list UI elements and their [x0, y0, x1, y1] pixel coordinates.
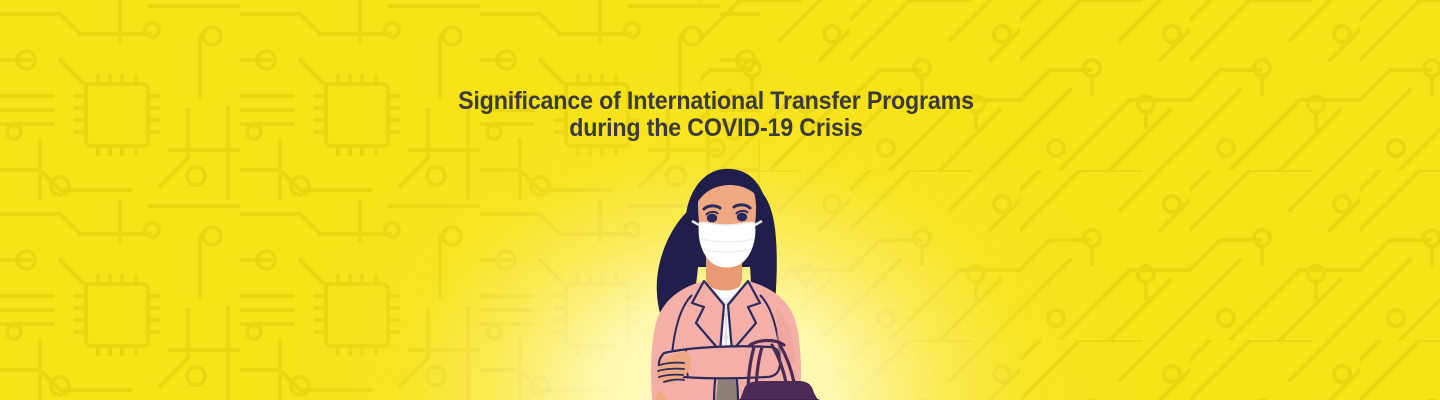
handbag-body	[740, 381, 818, 400]
eye-right	[737, 213, 747, 222]
woman-mask-illustration-svg	[600, 155, 850, 400]
page-title: Significance of International Transfer P…	[0, 88, 1436, 142]
illustration-woman-with-mask	[600, 155, 850, 400]
banner-hero: Significance of International Transfer P…	[0, 0, 1440, 400]
title-line-2: during the COVID-19 Crisis	[46, 115, 1385, 142]
eye-left	[707, 214, 717, 223]
title-line-1: Significance of International Transfer P…	[46, 88, 1385, 115]
shirt-button-2	[724, 335, 728, 339]
shirt-button-1	[724, 313, 728, 317]
